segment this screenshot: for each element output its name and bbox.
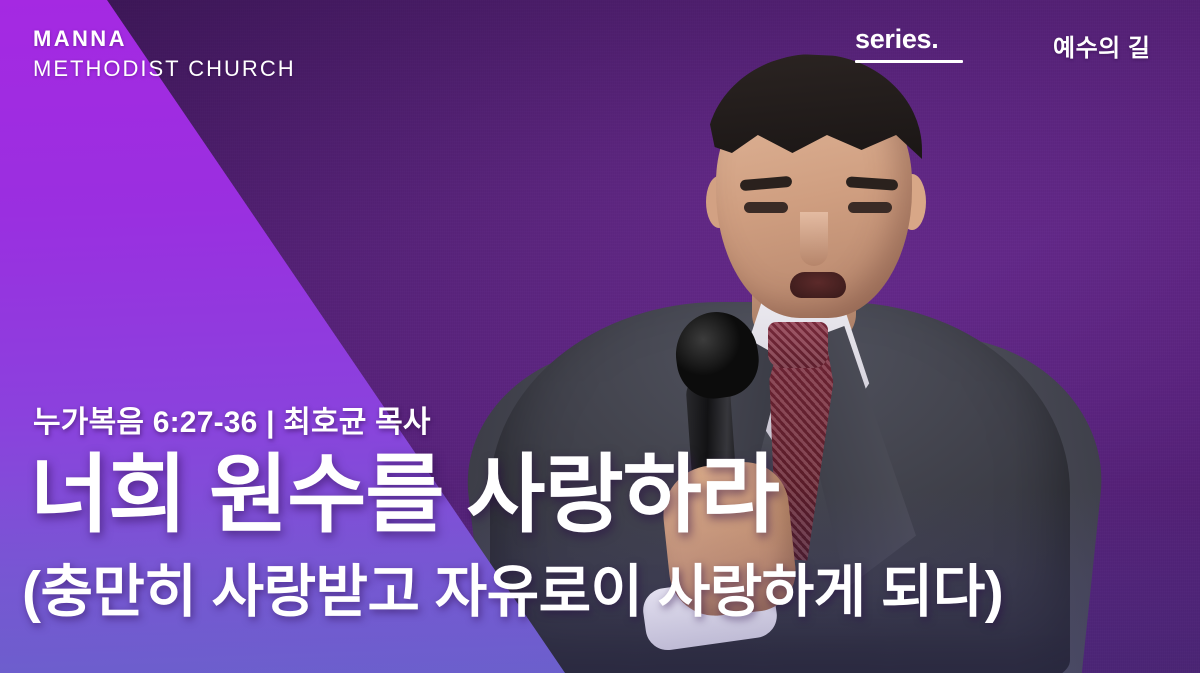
sermon-title-card: MANNA METHODIST CHURCH series. 예수의 길 누가복… xyxy=(0,0,1200,673)
necktie-knot xyxy=(768,322,828,368)
series-mark: series. xyxy=(855,26,963,63)
eye-right xyxy=(848,202,892,213)
scripture-and-preacher: 누가복음 6:27-36 | 최호균 목사 xyxy=(33,397,431,441)
church-name-secondary: METHODIST CHURCH xyxy=(33,58,296,80)
series-name: 예수의 길 xyxy=(1053,28,1151,63)
series-underline-rule xyxy=(855,60,963,63)
sermon-title: 너희 원수를 사랑하라 xyxy=(30,452,779,540)
sermon-subtitle: (충만히 사랑받고 자유로이 사랑하게 되다) xyxy=(22,563,1003,623)
series-label: series. xyxy=(855,26,963,53)
eye-left xyxy=(744,202,788,213)
church-logo: MANNA METHODIST CHURCH xyxy=(33,28,296,80)
church-name-primary: MANNA xyxy=(33,28,296,50)
nose xyxy=(800,212,828,266)
mouth xyxy=(790,272,846,298)
